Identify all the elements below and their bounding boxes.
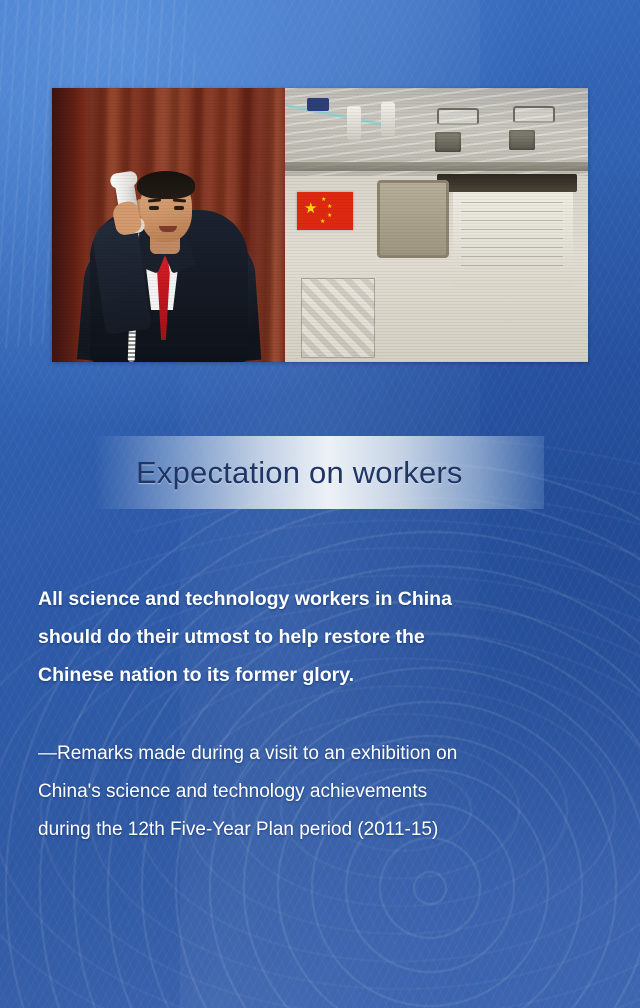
- attribution-line: China's science and technology achieveme…: [38, 773, 618, 811]
- page-title: Expectation on workers: [136, 455, 463, 491]
- spacecraft-equipment-box-2: [509, 130, 535, 150]
- quote-line: Chinese nation to its former glory.: [38, 656, 604, 694]
- spacecraft-handle-1: [437, 108, 479, 125]
- spacecraft-white-tab-1: [347, 106, 361, 140]
- eye-right: [174, 206, 184, 210]
- attribution-line: —Remarks made during a visit to an exhib…: [38, 735, 618, 773]
- spacecraft-rail: [285, 162, 588, 171]
- spacecraft-blue-label: [307, 98, 329, 111]
- presentation-slide: ★ ★ ★ ★ ★ ★: [0, 0, 640, 1008]
- quote-line: All science and technology workers in Ch…: [38, 580, 604, 618]
- spacecraft-equipment-box-1: [435, 132, 461, 152]
- background-arc-pattern-secondary: [0, 430, 640, 1008]
- spacecraft-dark-recess: [437, 174, 577, 192]
- quote-block: All science and technology workers in Ch…: [38, 580, 604, 694]
- flag-small-star-3: ★: [327, 213, 332, 219]
- spacecraft-handle-2: [513, 106, 555, 123]
- chinese-flag-on-wall: ★ ★ ★ ★ ★: [297, 192, 353, 230]
- photo-composite: ★ ★ ★ ★ ★ ★: [52, 88, 588, 362]
- flag-small-star-1: ★: [321, 197, 326, 203]
- background-arc-pattern: [0, 438, 640, 1008]
- eye-left: [149, 206, 159, 210]
- photo-saluting-astronauts: ★ ★ ★ ★ ★ ★: [285, 88, 588, 362]
- title-banner: Expectation on workers: [95, 436, 544, 509]
- hair: [137, 171, 195, 199]
- flag-small-star-4: ★: [320, 219, 325, 225]
- photo-official-on-telephone: [52, 88, 285, 362]
- spacecraft-document-sheet: [453, 192, 573, 288]
- flag-small-star-2: ★: [327, 204, 332, 210]
- spacecraft-wall-grid-panel: [301, 278, 375, 358]
- flag-big-star: ★: [304, 201, 317, 216]
- spacecraft-hatch-frame: [377, 180, 449, 258]
- attribution-block: —Remarks made during a visit to an exhib…: [38, 735, 618, 849]
- quote-line: should do their utmost to help restore t…: [38, 618, 604, 656]
- spacecraft-white-tab-2: [381, 102, 395, 136]
- attribution-line: during the 12th Five-Year Plan period (2…: [38, 811, 618, 849]
